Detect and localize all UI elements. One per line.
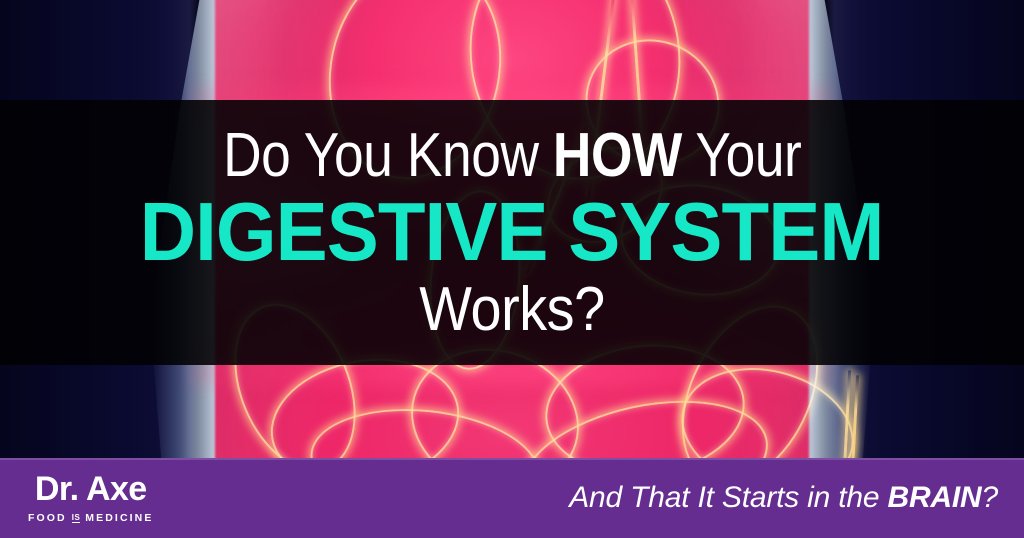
dr-axe-logo[interactable]: Dr. Axe FOOD IS MEDICINE xyxy=(28,472,153,524)
logo-tagline: FOOD IS MEDICINE xyxy=(28,513,153,524)
headline-line-3: Works? xyxy=(419,278,604,341)
headline-line-1: Do You Know HOW Your xyxy=(223,124,801,187)
logo-tagline-part2: MEDICINE xyxy=(85,513,153,524)
footer-tagline: And That It Starts in the BRAIN? xyxy=(569,481,998,515)
logo-wordmark: Dr. Axe xyxy=(35,472,147,506)
promo-graphic: Do You Know HOW Your DIGESTIVE SYSTEM Wo… xyxy=(0,0,1024,538)
footer-tagline-emphasis: BRAIN xyxy=(888,481,982,514)
headline-line-2: DIGESTIVE SYSTEM xyxy=(140,191,884,272)
headline-line-1-suffix: Your xyxy=(682,121,801,190)
headline-block: Do You Know HOW Your DIGESTIVE SYSTEM Wo… xyxy=(0,100,1024,365)
logo-tagline-connector: IS xyxy=(72,514,81,523)
footer-tagline-prefix: And That It Starts in the xyxy=(569,481,887,514)
logo-tagline-part1: FOOD xyxy=(28,513,67,524)
headline-line-1-emphasis: HOW xyxy=(553,121,682,190)
footer-bar: Dr. Axe FOOD IS MEDICINE And That It Sta… xyxy=(0,458,1024,538)
footer-tagline-suffix: ? xyxy=(982,481,999,514)
headline-line-1-prefix: Do You Know xyxy=(223,121,553,190)
